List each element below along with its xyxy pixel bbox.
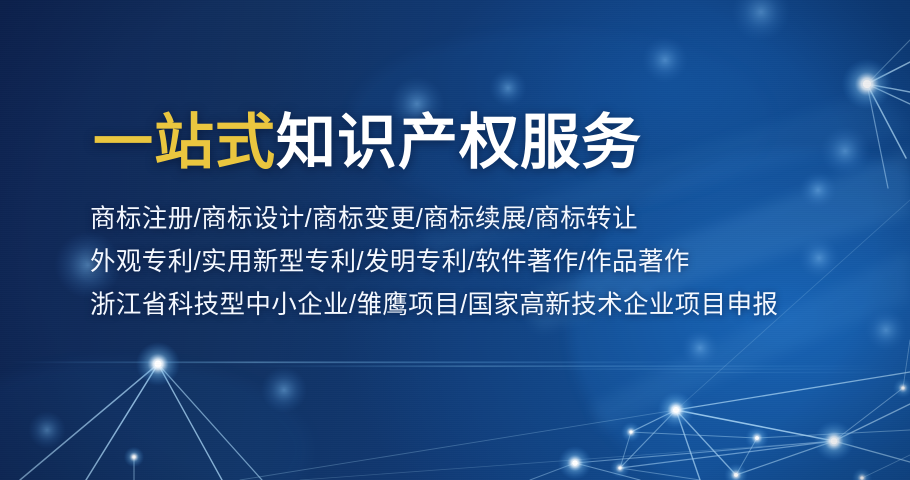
- headline-rest: 知识产权服务: [276, 109, 642, 176]
- banner-copy: 一站式知识产权服务 商标注册/商标设计/商标变更/商标续展/商标转让 外观专利/…: [90, 108, 850, 327]
- network-node: [901, 386, 904, 389]
- headline-highlight: 一站式: [93, 109, 276, 176]
- network-node: [831, 438, 838, 445]
- network-node: [154, 360, 161, 367]
- network-node: [629, 430, 632, 433]
- network-node: [863, 80, 871, 88]
- service-line-3: 浙江省科技型中小企业/雏鹰项目/国家高新技术企业项目申报: [90, 284, 850, 327]
- bokeh-dot: [489, 69, 527, 107]
- service-line-2: 外观专利/实用新型专利/发明专利/软件著作/作品著作: [90, 241, 850, 284]
- network-node: [860, 476, 863, 479]
- bokeh-dot: [261, 367, 307, 413]
- service-list: 商标注册/商标设计/商标变更/商标续展/商标转让 外观专利/实用新型专利/发明专…: [90, 198, 850, 327]
- service-line-1: 商标注册/商标设计/商标变更/商标续展/商标转让: [90, 198, 850, 241]
- hero-banner: 一站式知识产权服务 商标注册/商标设计/商标变更/商标续展/商标转让 外观专利/…: [0, 0, 910, 480]
- bokeh-dot: [642, 37, 688, 83]
- bokeh-dot: [865, 309, 907, 351]
- bokeh-dot: [28, 411, 66, 449]
- bokeh-dot: [681, 329, 719, 367]
- network-node: [673, 407, 679, 413]
- network-node: [618, 466, 621, 469]
- network-node: [755, 436, 759, 440]
- page-title: 一站式知识产权服务: [93, 108, 850, 178]
- network-node: [132, 455, 135, 458]
- network-node: [572, 460, 578, 466]
- network-node: [734, 473, 738, 477]
- bokeh-dot: [732, 0, 791, 41]
